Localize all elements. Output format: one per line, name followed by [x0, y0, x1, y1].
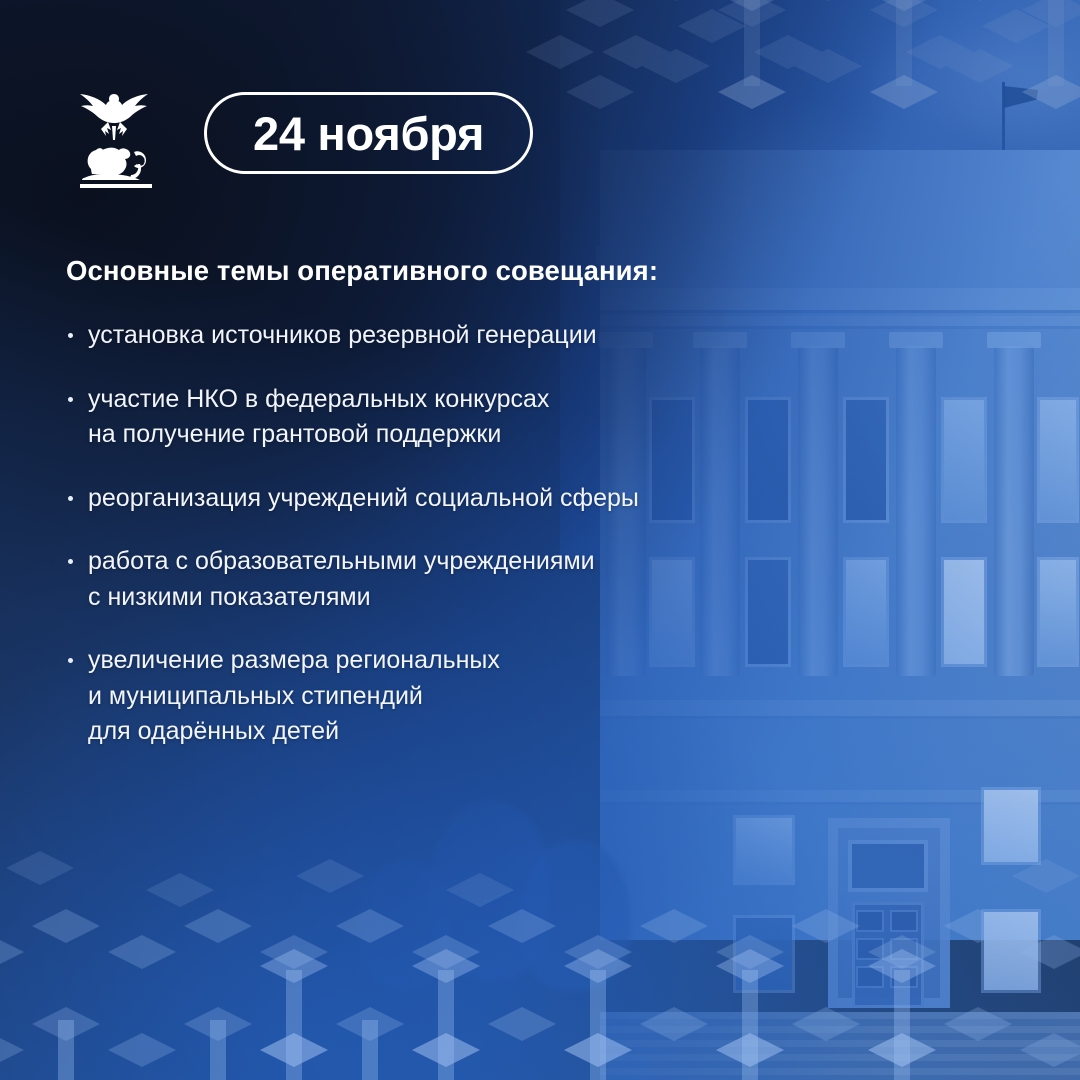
topic-line: с низкими показателями — [88, 580, 826, 616]
bullet-dot-icon — [68, 658, 73, 663]
topic-line: увеличение размера региональных — [88, 643, 826, 679]
topic-item: участие НКО в федеральных конкурсах на п… — [66, 382, 826, 453]
topics-list: установка источников резервной генерации… — [66, 318, 826, 750]
page-title: Основные темы оперативного совещания: — [66, 255, 658, 287]
date-badge-label: 24 ноября — [253, 110, 484, 157]
topic-item: установка источников резервной генерации — [66, 318, 826, 354]
topic-item: реорганизация учреждений социальной сфер… — [66, 481, 826, 517]
topic-item: увеличение размера региональных и муници… — [66, 643, 826, 750]
poster-canvas: 24 ноября Основные темы оперативного сов… — [0, 0, 1080, 1080]
belgorod-coat-of-arms-eagle-lion-icon — [62, 78, 166, 188]
poster-content: 24 ноября Основные темы оперативного сов… — [0, 0, 1080, 1080]
poster-header: 24 ноября — [62, 78, 533, 188]
bullet-dot-icon — [68, 496, 73, 501]
topic-line: на получение грантовой поддержки — [88, 417, 826, 453]
topic-line: для одарённых детей — [88, 714, 826, 750]
topic-line: участие НКО в федеральных конкурсах — [88, 382, 826, 418]
topic-line: и муниципальных стипендий — [88, 679, 826, 715]
topic-line: реорганизация учреждений социальной сфер… — [88, 481, 826, 517]
bullet-dot-icon — [68, 397, 73, 402]
bullet-dot-icon — [68, 559, 73, 564]
topic-line: работа с образовательными учреждениями — [88, 544, 826, 580]
bullet-dot-icon — [68, 333, 73, 338]
topic-line: установка источников резервной генерации — [88, 318, 826, 354]
date-badge: 24 ноября — [204, 92, 533, 174]
topic-item: работа с образовательными учреждениями с… — [66, 544, 826, 615]
